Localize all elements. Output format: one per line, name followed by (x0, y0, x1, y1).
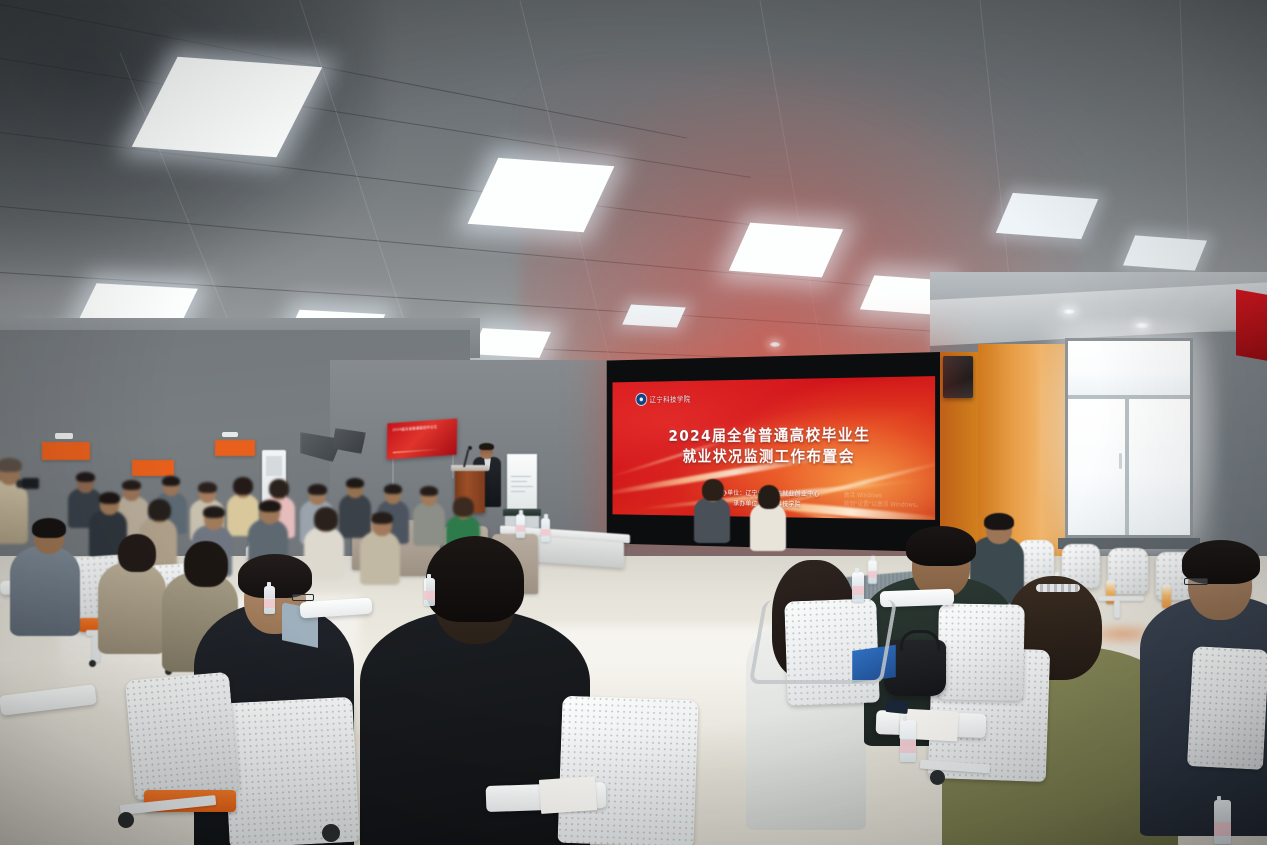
windows-activation-watermark: 激活 Windows 转到"设置"以激活 Windows。 (844, 491, 922, 510)
acoustic-panel (132, 460, 174, 476)
recessed-led-panel (622, 305, 686, 328)
university-logo: 辽宁科技学院 (635, 392, 690, 406)
recessed-led-panel (1123, 235, 1207, 270)
screen-title-line-1: 2024届全省普通高校毕业生 (612, 424, 935, 447)
recessed-led-panel (471, 328, 551, 358)
chair-leg (1098, 596, 1144, 601)
chair-caster (930, 770, 945, 785)
handbag-strap (900, 630, 940, 651)
water-dispenser-panel (266, 456, 282, 476)
notepad (539, 776, 597, 814)
water-bottle (541, 518, 550, 542)
exterior-window (1065, 338, 1193, 538)
water-bottle (868, 560, 877, 584)
chair-caster (118, 812, 134, 828)
wall-mounted-loudspeaker (943, 356, 973, 398)
banner-pole (392, 455, 394, 485)
chair-frame (749, 600, 898, 684)
water-bottle (1214, 800, 1231, 844)
water-bottle (264, 586, 275, 614)
logo-text: 辽宁科技学院 (650, 393, 691, 404)
screen-title-line-2: 就业状况监测工作布置会 (612, 446, 935, 468)
chair-caster (322, 824, 340, 842)
wall-fixture (222, 432, 238, 437)
lectern-top (451, 465, 489, 471)
eyeglasses-icon (292, 594, 314, 601)
presenter-hair (479, 443, 494, 450)
phone-icon (885, 699, 908, 714)
chair-leg (1114, 600, 1120, 618)
water-bottle (900, 720, 916, 762)
acoustic-panel (42, 442, 90, 460)
conference-room-photo: 辽宁科技学院 2024届全省普通高校毕业生 就业状况监测工作布置会 主办单位：辽… (0, 0, 1267, 845)
hair-clip (1036, 584, 1080, 592)
wall-banner-right (1236, 289, 1267, 360)
downlight-icon (770, 342, 780, 347)
downlight-icon (1135, 322, 1149, 329)
water-bottle (852, 572, 864, 602)
wall-fixture (55, 433, 73, 439)
downlight-icon (1062, 308, 1076, 315)
recessed-led-panel (996, 193, 1098, 239)
eyeglasses-icon (1184, 578, 1208, 585)
wall-banner-line-1: 2024届全省普通高校毕业生 (392, 424, 453, 434)
screen-title: 2024届全省普通高校毕业生 就业状况监测工作布置会 (612, 424, 935, 468)
wall-banner-left: 2024届全省普通高校毕业生 (387, 418, 457, 459)
roll-up-standee (507, 454, 537, 509)
microphone-head-icon (468, 446, 472, 450)
logo-emblem-icon (635, 393, 647, 406)
water-bottle (424, 578, 435, 606)
acoustic-panel (215, 440, 255, 456)
water-bottle (516, 514, 525, 538)
water-bottle (1162, 584, 1171, 608)
watermark-line-2: 转到"设置"以激活 Windows。 (844, 500, 922, 510)
camera-icon (22, 478, 39, 489)
